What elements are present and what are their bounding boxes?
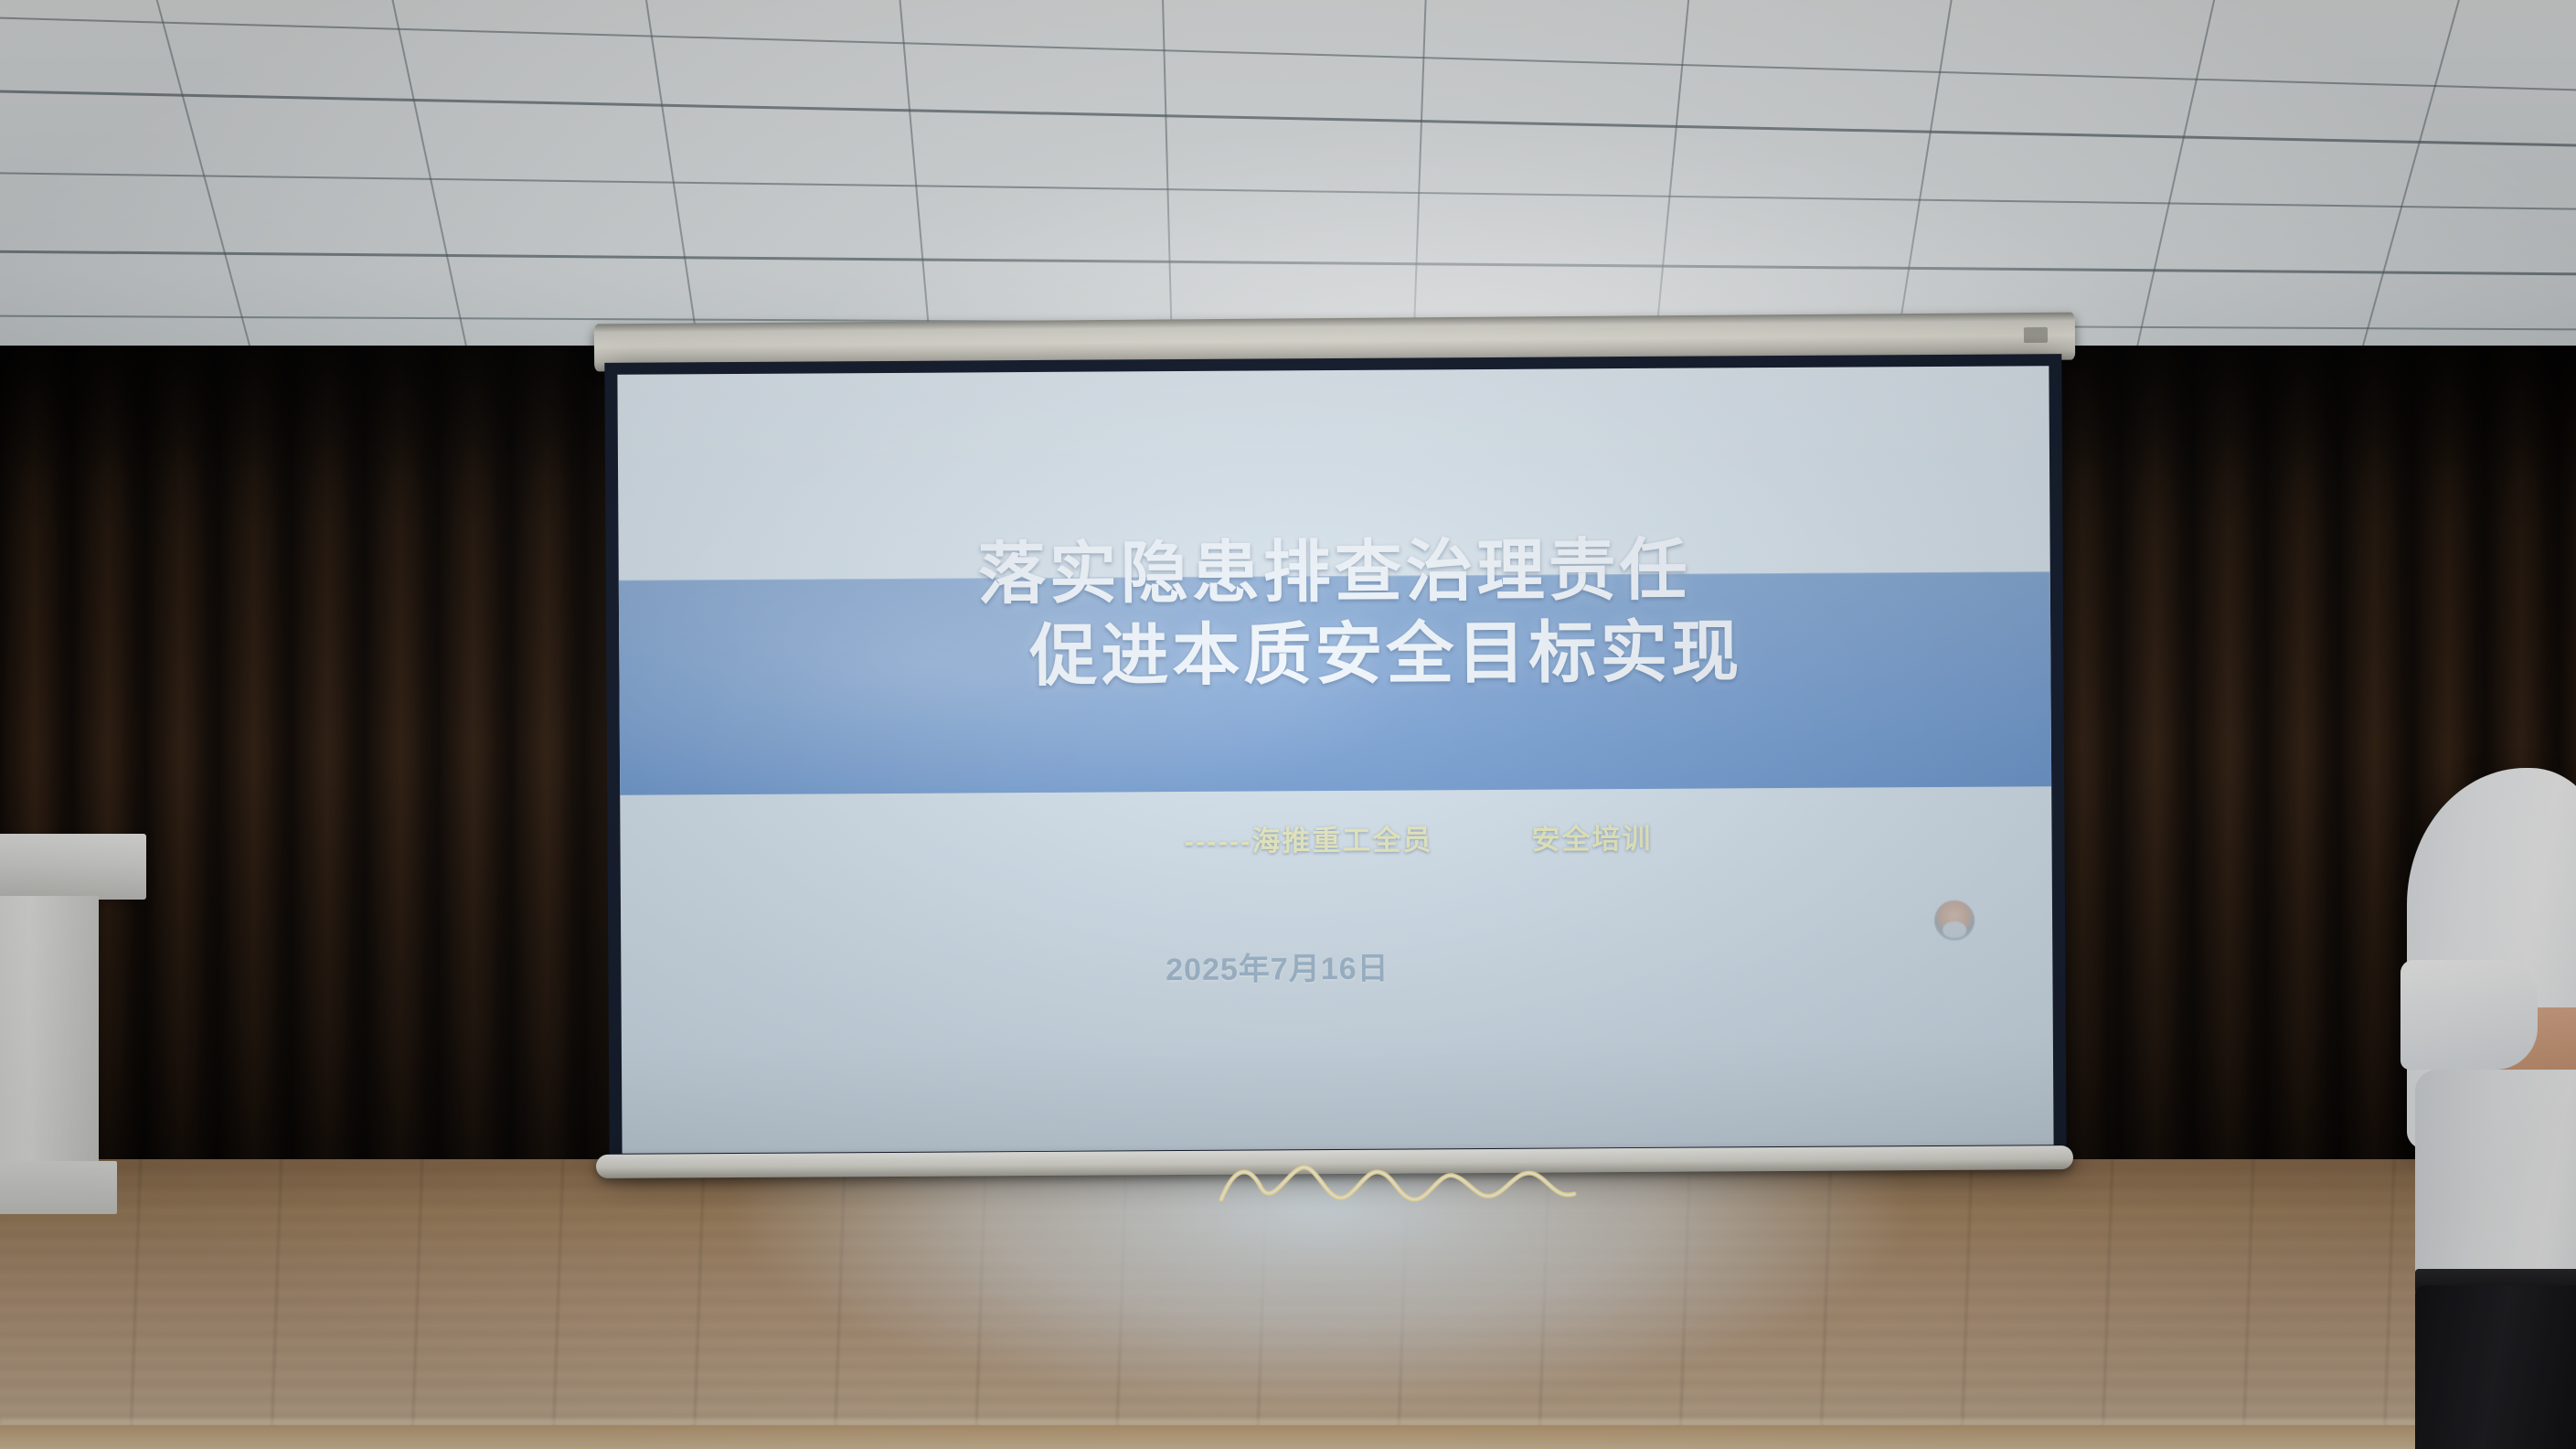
attendee-person [2393, 768, 2576, 1449]
projection-screen: 落实隐患排查治理责任 促进本质安全目标实现 ------海推重工全员 安全培训 … [604, 354, 2066, 1167]
slide-title: 落实隐患排查治理责任 促进本质安全目标实现 [618, 527, 2050, 700]
projector-light-spill [567, 1154, 2075, 1449]
slide-date: 2025年7月16日 [621, 939, 2052, 993]
floor [0, 1159, 2576, 1449]
room-photo-scene: 落实隐患排查治理责任 促进本质安全目标实现 ------海推重工全员 安全培训 … [0, 0, 2576, 1449]
subtitle-topic: 安全培训 [1531, 815, 1652, 858]
subtitle-organization: ------海推重工全员 [1184, 816, 1432, 859]
slide-surface: 落实隐患排查治理责任 促进本质安全目标实现 ------海推重工全员 安全培训 … [617, 366, 2053, 1154]
date-text: 2025年7月16日 [1166, 952, 1389, 987]
housing-brand-label [2024, 327, 2048, 343]
slide-subtitle-row: ------海推重工全员 安全培训 [620, 813, 2051, 863]
person-avatar-icon [1934, 900, 1975, 940]
title-line-1: 落实隐患排查治理责任 [618, 527, 2050, 618]
lectern [0, 834, 146, 1227]
presentation-slide: 落实隐患排查治理责任 促进本质安全目标实现 ------海推重工全员 安全培训 … [617, 366, 2053, 1154]
ceiling-tiles [0, 0, 2576, 358]
title-line-2: 促进本质安全目标实现 [721, 609, 2051, 699]
